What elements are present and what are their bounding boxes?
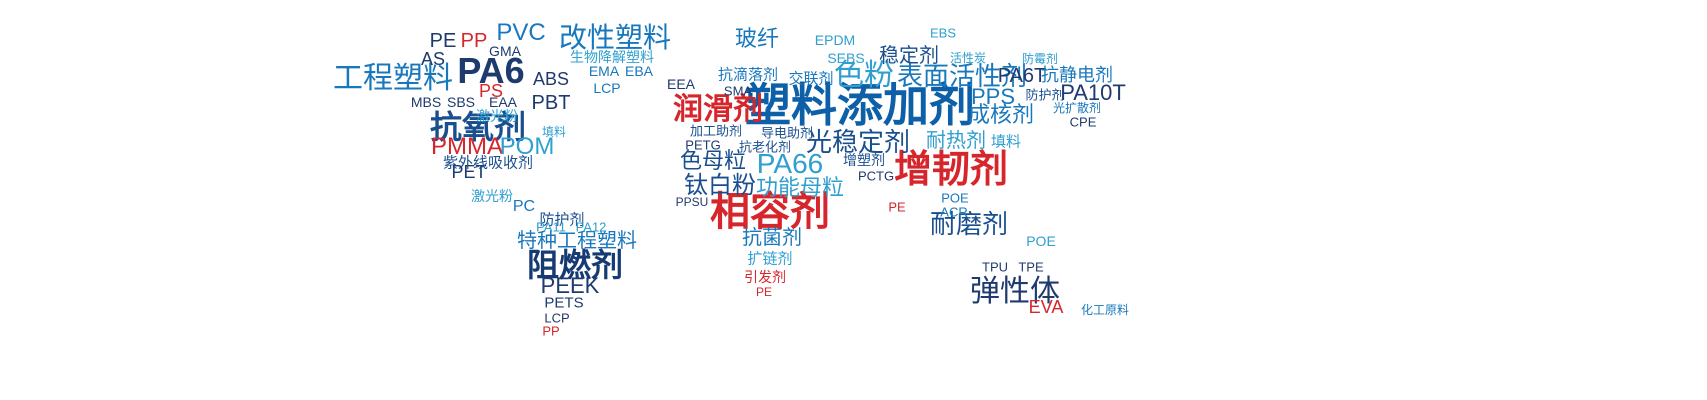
cloud-word[interactable]: 加工助剂 [690, 125, 742, 138]
cloud-word[interactable]: 色母粒 [680, 150, 746, 172]
cloud-word[interactable]: AS [421, 50, 445, 68]
cloud-word[interactable]: EVA [1029, 298, 1064, 316]
cloud-word[interactable]: 抗老化剂 [739, 141, 791, 154]
cloud-word[interactable]: PPSU [676, 196, 709, 208]
cloud-word[interactable]: PE [430, 31, 457, 51]
cloud-word[interactable]: 玻纤 [735, 28, 779, 50]
cloud-word[interactable]: 化工原料 [1081, 304, 1129, 316]
cloud-word[interactable]: PA6T [998, 66, 1047, 86]
cloud-word[interactable]: 紫外线吸收剂 [443, 156, 533, 171]
cloud-word[interactable]: PP [461, 31, 488, 51]
cloud-word[interactable]: EEA [667, 77, 695, 91]
cloud-word[interactable]: PE [888, 201, 905, 214]
cloud-word[interactable]: 导电助剂 [761, 127, 813, 140]
cloud-word[interactable]: EAA [489, 95, 517, 109]
cloud-word[interactable]: TPE [1018, 261, 1043, 274]
cloud-word[interactable]: 功能母粒 [756, 177, 844, 199]
cloud-word[interactable]: POE [941, 192, 968, 205]
cloud-word[interactable]: PE [756, 286, 772, 298]
cloud-word[interactable]: PETG [685, 139, 720, 152]
cloud-word[interactable]: PCTG [858, 170, 894, 183]
cloud-word[interactable]: CPE [1070, 116, 1097, 129]
cloud-word[interactable]: 防护剂 [1025, 89, 1064, 102]
cloud-word[interactable]: SBS [447, 95, 475, 109]
cloud-word[interactable]: PP [542, 325, 559, 338]
cloud-word[interactable]: EPDM [815, 33, 855, 47]
cloud-word[interactable]: MBS [411, 95, 441, 109]
cloud-word[interactable]: ABS [533, 70, 569, 88]
cloud-word[interactable]: 抗静电剂 [1041, 66, 1113, 84]
cloud-word[interactable]: POE [1026, 234, 1056, 248]
cloud-word[interactable]: 激光粉 [471, 189, 513, 203]
cloud-word[interactable]: SEBS [827, 51, 864, 65]
cloud-word[interactable]: LCP [593, 81, 620, 95]
cloud-word[interactable]: 引发剂 [744, 270, 786, 284]
cloud-word[interactable]: 抗菌剂 [742, 228, 802, 248]
cloud-word[interactable]: 稳定剂 [879, 46, 939, 66]
cloud-word[interactable]: 耐热剂 [926, 131, 986, 151]
cloud-word[interactable]: PBT [532, 93, 571, 113]
cloud-word[interactable]: GMA [489, 44, 521, 58]
cloud-word[interactable]: 生物降解塑料 [570, 50, 654, 64]
cloud-word[interactable]: PVC [496, 21, 545, 45]
cloud-word[interactable]: 润滑剂 [673, 95, 763, 125]
cloud-word[interactable]: 增塑剂 [843, 153, 885, 167]
cloud-word[interactable]: 填料 [542, 126, 566, 138]
cloud-word[interactable]: 改性塑料 [559, 24, 671, 52]
cloud-word[interactable]: PC [513, 199, 535, 215]
cloud-word[interactable]: EBS [930, 27, 956, 40]
cloud-word[interactable]: SMA [724, 85, 752, 98]
cloud-word[interactable]: 防霉剂 [1022, 53, 1058, 65]
cloud-word[interactable]: TPU [982, 261, 1008, 274]
cloud-word[interactable]: ACR [940, 206, 967, 219]
cloud-word[interactable]: EMA [589, 64, 619, 78]
cloud-word[interactable]: 成核剂 [968, 104, 1034, 126]
cloud-word[interactable]: 抗滴落剂 [718, 68, 778, 83]
cloud-word[interactable]: 填料 [991, 135, 1021, 150]
cloud-word[interactable]: 光扩散剂 [1053, 102, 1101, 114]
cloud-word[interactable]: 增韧剂 [894, 151, 1008, 189]
cloud-word[interactable]: PA11 [536, 221, 566, 234]
cloud-word[interactable]: 激光粉 [476, 109, 518, 123]
word-cloud-canvas: 塑料添加剂相容剂增韧剂阻燃剂润滑剂工程塑料PA6抗氧剂改性塑料色粉表面活性剂光稳… [0, 0, 1707, 400]
cloud-word[interactable]: PETS [544, 296, 583, 311]
cloud-word[interactable]: 交联剂 [788, 72, 833, 87]
cloud-word[interactable]: 扩链剂 [747, 252, 792, 267]
cloud-word[interactable]: 活性炭 [950, 52, 986, 64]
cloud-word[interactable]: EBA [625, 64, 653, 78]
cloud-word[interactable]: PA12 [576, 221, 607, 234]
